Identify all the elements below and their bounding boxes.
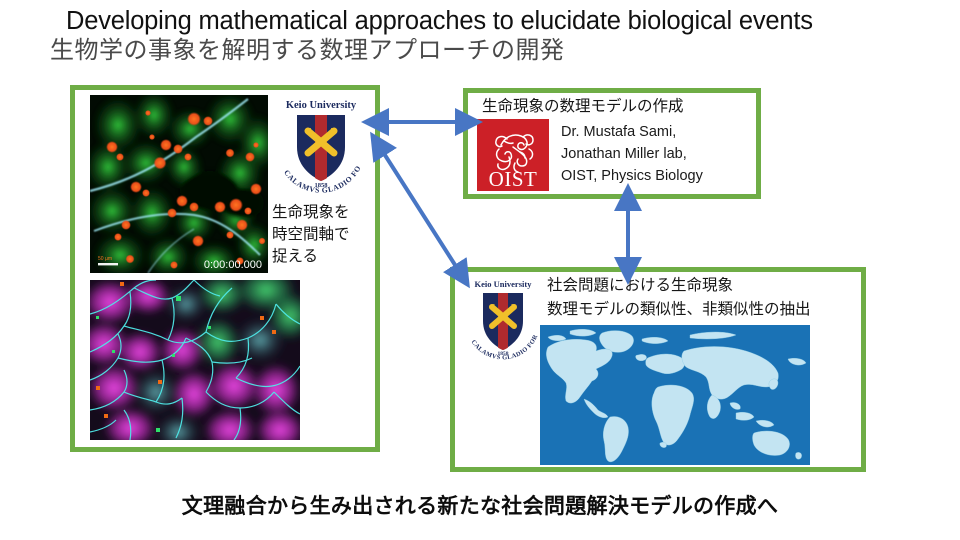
social-title-line-2: 数理モデルの類似性、非類似性の抽出	[547, 298, 867, 322]
oist-logo-text: OIST	[489, 167, 538, 191]
keio-university-crest: Keio University 1858 CALAMVS GLADIO FORT…	[462, 276, 544, 366]
world-map-svg	[540, 325, 810, 465]
arrow-left-to-model	[376, 108, 468, 136]
keio-crest-svg: Keio University 1858 CALAMVS GLADIO FORT…	[462, 276, 544, 366]
people-line-1: Dr. Mustafa Sami,	[561, 121, 761, 143]
left-caption-line-2: 時空間軸で	[272, 224, 384, 246]
page-title-english: Developing mathematical approaches to el…	[66, 6, 956, 36]
people-line-2: Jonathan Miller lab,	[561, 143, 761, 165]
keio-crest-top-text: Keio University	[475, 279, 533, 289]
social-problems-box: Keio University 1858 CALAMVS GLADIO FORT…	[450, 267, 866, 472]
biological-imaging-panel: 50 µm 0:00:00.000	[70, 85, 380, 452]
keio-crest-svg: Keio University 1858 CALAMVS GLADIO FORT…	[271, 95, 371, 200]
bottom-caption: 文理融合から生み出される新たな社会問題解決モデルの作成へ	[0, 492, 960, 522]
world-map-image	[540, 325, 810, 465]
left-caption-line-3: 捉える	[272, 246, 384, 268]
social-title-line-1: 社会問題における生命現象	[547, 274, 867, 298]
timestamp-overlay: 0:00:00.000	[204, 259, 262, 271]
segmented-cells-image	[90, 280, 300, 440]
fluorescence-image-svg: 50 µm 0:00:00.000	[90, 95, 268, 273]
people-line-3: OIST, Physics Biology	[561, 165, 761, 187]
svg-text:50 µm: 50 µm	[98, 256, 112, 262]
keio-crest-top-text: Keio University	[286, 100, 357, 111]
fluorescence-microscopy-image: 50 µm 0:00:00.000	[90, 95, 268, 273]
arrow-model-to-social	[614, 198, 642, 270]
oist-logo: OIST	[477, 119, 549, 191]
segmented-cells-svg	[90, 280, 300, 440]
mathematical-model-title: 生命現象の数理モデルの作成	[482, 96, 684, 118]
mathematical-model-people: Dr. Mustafa Sami, Jonathan Miller lab, O…	[561, 121, 761, 187]
keio-university-crest: Keio University 1858 CALAMVS GLADIO FORT…	[271, 95, 371, 200]
page-title-japanese: 生物学の事象を解明する数理アプローチの開発	[50, 36, 940, 66]
mathematical-model-box: 生命現象の数理モデルの作成 OIST	[463, 88, 761, 199]
oist-logo-svg: OIST	[477, 119, 549, 191]
left-panel-caption: 生命現象を 時空間軸で 捉える	[272, 202, 384, 268]
slide-canvas: Developing mathematical approaches to el…	[0, 0, 960, 540]
social-problems-title: 社会問題における生命現象 数理モデルの類似性、非類似性の抽出	[547, 274, 867, 322]
arrow-left-to-social	[372, 140, 470, 280]
left-caption-line-1: 生命現象を	[272, 202, 384, 224]
